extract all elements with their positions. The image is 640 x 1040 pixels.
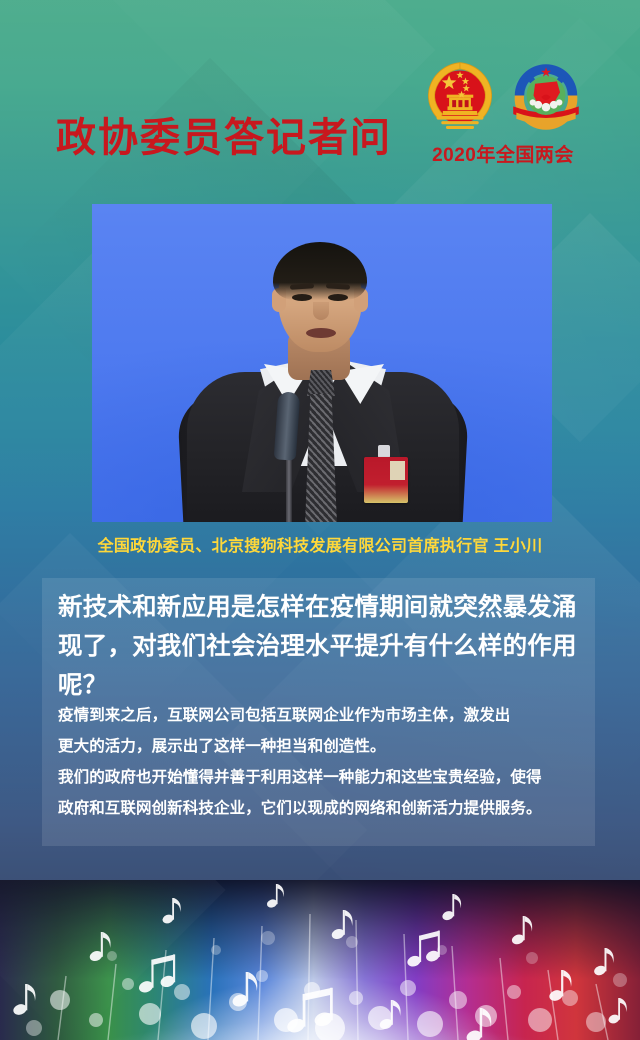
answer-text: 疫情到来之后，互联网公司包括互联网企业作为市场主体，激发出 更大的活力，展示出了… — [58, 700, 598, 824]
event-subtitle: 2020年全国两会 — [418, 140, 588, 167]
microphone-icon — [274, 391, 301, 460]
answer-line: 疫情到来之后，互联网公司包括互联网企业作为市场主体，激发出 — [58, 700, 598, 731]
delegate-badge — [364, 457, 408, 503]
badge-photo — [390, 461, 405, 480]
question-text: 新技术和新应用是怎样在疫情期间就突然暴发涌现了，对我们社会治理水平提升有什么样的… — [58, 588, 598, 705]
photo-caption: 全国政协委员、北京搜狗科技发展有限公司首席执行官 王小川 — [0, 532, 640, 556]
national-emblem-of-china-icon — [421, 58, 499, 136]
emblem-group — [418, 58, 588, 136]
mouth — [306, 328, 336, 338]
answer-line: 政府和互联网创新科技企业，它们以现成的网络和创新活力提供服务。 — [58, 793, 598, 824]
necktie-knot — [307, 370, 335, 396]
cppcc-emblem-icon — [507, 58, 585, 136]
nose — [313, 302, 329, 320]
speaker-photo — [92, 204, 552, 522]
answer-line: 我们的政府也开始懂得并善于利用这样一种能力和这些宝贵经验，使得 — [58, 762, 598, 793]
answer-line: 更大的活力，展示出了这样一种担当和创造性。 — [58, 731, 598, 762]
music-notes-footer — [0, 880, 640, 1040]
poster: 政协委员答记者问 — [0, 0, 640, 1040]
page-title: 政协委员答记者问 — [56, 118, 392, 158]
microphone-stand — [286, 454, 292, 522]
speaker-figure — [92, 204, 552, 522]
eye-left — [292, 294, 312, 301]
hair — [273, 242, 367, 300]
poster-header: 政协委员答记者问 — [0, 0, 640, 200]
eye-right — [328, 294, 348, 301]
